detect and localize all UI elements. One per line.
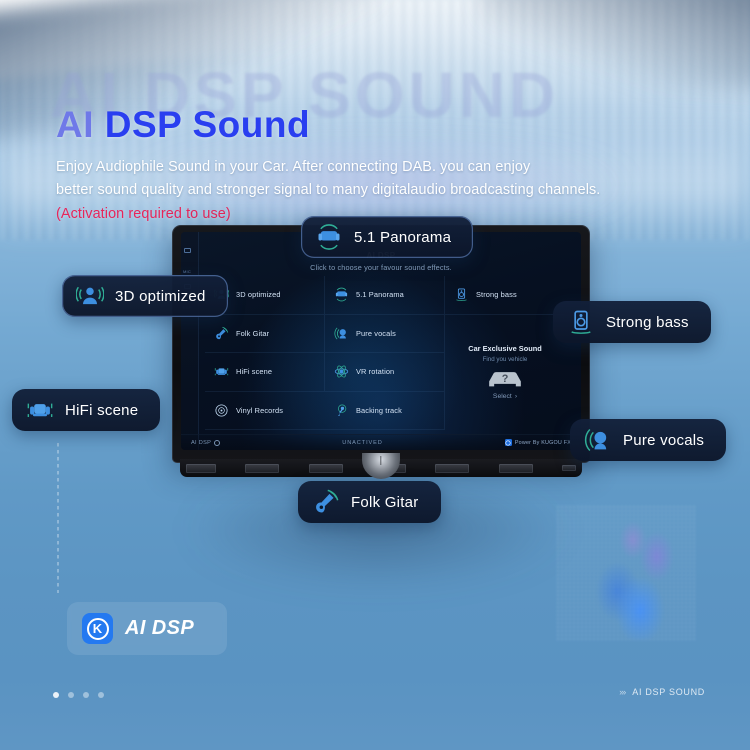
- kugou-k-letter: K: [87, 618, 109, 640]
- car-panel-title: Car Exclusive Sound: [468, 344, 542, 353]
- kugou-brand-icon: [505, 439, 512, 446]
- callout-hifi-scene[interactable]: HiFi scene: [12, 389, 160, 431]
- vocals-icon: [584, 426, 612, 454]
- callout-label: HiFi scene: [65, 402, 138, 419]
- guitar-icon: [214, 326, 229, 341]
- status-right-label: Power By KUGOU FX: [515, 440, 571, 446]
- car-select-label: Select: [493, 393, 512, 400]
- grid-label: 5.1 Panorama: [356, 290, 404, 299]
- port-connector-6: [499, 464, 533, 473]
- status-right: Power By KUGOU FX: [505, 439, 571, 446]
- callout-label: 3D optimized: [115, 288, 206, 305]
- guitar-icon: [312, 488, 340, 516]
- carousel-dot-4[interactable]: [98, 692, 104, 698]
- armchair-icon: [26, 396, 54, 424]
- car-exclusive-sound-panel[interactable]: Car Exclusive Sound Find you vehicle ? S…: [445, 315, 565, 431]
- sound-effect-grid: 3D optimized 5.1 Panorama Strong bass Fo: [205, 276, 565, 430]
- info-icon[interactable]: [214, 440, 220, 446]
- screen-status-bar: AI DSP UNACTIVED Power By KUGOU FX: [181, 434, 581, 450]
- particle-swirl-graphic: [556, 505, 696, 640]
- port-connector-3: [309, 464, 343, 473]
- subtitle-line-2: better sound quality and stronger signal…: [56, 179, 746, 202]
- callout-strong-bass[interactable]: Strong bass: [553, 301, 711, 343]
- grid-item-pure-vocals[interactable]: Pure vocals: [325, 315, 445, 354]
- grid-label: Folk Gitar: [236, 329, 269, 338]
- carousel-dot-2[interactable]: [68, 692, 74, 698]
- speaker-icon: [567, 308, 595, 336]
- status-left-label: AI DSP: [191, 440, 211, 446]
- grid-item-51-panorama[interactable]: 5.1 Panorama: [325, 276, 445, 315]
- port-usb-1: [186, 464, 216, 473]
- status-activation-state: UNACTIVED: [342, 440, 382, 446]
- car-select-link[interactable]: Select›: [493, 393, 517, 400]
- grid-label: HiFi scene: [236, 367, 272, 376]
- grid-label: Vinyl Records: [236, 406, 283, 415]
- backing-track-icon: [334, 403, 349, 418]
- page-title: AI DSP Sound: [56, 104, 746, 147]
- grid-label: 3D optimized: [236, 290, 281, 299]
- grid-item-vr-rotation[interactable]: VR rotation: [325, 353, 445, 392]
- vr-rotation-icon: [334, 364, 349, 379]
- status-left[interactable]: AI DSP: [191, 440, 220, 446]
- panorama-icon: [334, 287, 349, 302]
- car-panel-subtitle: Find you vehicle: [483, 356, 528, 363]
- vocals-icon: [334, 326, 349, 341]
- callout-3d-optimized[interactable]: 3D optimized: [62, 275, 228, 317]
- page-title-ai: AI: [56, 104, 105, 145]
- callout-51-panorama[interactable]: 5.1 Panorama: [301, 216, 473, 258]
- port-connector-5: [435, 464, 469, 473]
- grid-label: Pure vocals: [356, 329, 396, 338]
- grid-item-folk-gitar[interactable]: Folk Gitar: [205, 315, 325, 354]
- svg-text:?: ?: [502, 373, 509, 385]
- callout-label: Strong bass: [606, 314, 689, 331]
- car-placeholder-icon: ?: [485, 366, 525, 390]
- speaker-icon: [454, 287, 469, 302]
- grid-label: VR rotation: [356, 367, 394, 376]
- carousel-dot-1[interactable]: [53, 692, 59, 698]
- grid-label: Strong bass: [476, 290, 517, 299]
- grid-label: Backing track: [356, 406, 402, 415]
- knob-indicator: [380, 456, 381, 465]
- callout-folk-gitar[interactable]: Folk Gitar: [298, 481, 441, 523]
- subtitle-line-1: Enjoy Audiophile Sound in your Car. Afte…: [56, 156, 746, 179]
- chevrons-right-icon: ›››: [619, 687, 625, 697]
- grid-item-vinyl-records[interactable]: Vinyl Records: [205, 392, 325, 431]
- particle-dots: [556, 505, 696, 640]
- kugou-k-icon: K: [82, 613, 113, 644]
- armchair-icon: [214, 364, 229, 379]
- grid-item-hifi-scene[interactable]: HiFi scene: [205, 353, 325, 392]
- grid-item-backing-track[interactable]: Backing track: [325, 392, 445, 431]
- ai-dsp-badge-label: AI DSP: [125, 617, 194, 640]
- ai-dsp-badge[interactable]: K AI DSP: [67, 602, 227, 655]
- callout-label: 5.1 Panorama: [354, 229, 451, 246]
- carousel-dot-3[interactable]: [83, 692, 89, 698]
- device-screen[interactable]: MIC ESP AI DSP Click to choose your favo…: [181, 232, 581, 450]
- header-block: AI DSP Sound Enjoy Audiophile Sound in y…: [56, 104, 746, 222]
- dotted-guide-line: [57, 443, 59, 593]
- chevron-right-icon: ›: [515, 393, 517, 400]
- callout-label: Folk Gitar: [351, 494, 419, 511]
- carousel-dots[interactable]: [53, 692, 104, 698]
- car-head-unit: MIC ESP AI DSP Click to choose your favo…: [172, 225, 590, 475]
- page-title-rest: DSP Sound: [105, 104, 310, 145]
- panorama-icon: [315, 223, 343, 251]
- port-connector-2: [245, 464, 279, 473]
- port-usb-c: [562, 465, 576, 471]
- 3d-optimized-icon: [76, 282, 104, 310]
- callout-pure-vocals[interactable]: Pure vocals: [570, 419, 726, 461]
- footer-link[interactable]: ››› AI DSP SOUND: [619, 687, 705, 697]
- vinyl-icon: [214, 403, 229, 418]
- grid-item-strong-bass[interactable]: Strong bass: [445, 276, 565, 315]
- screen-hint: Click to choose your favour sound effect…: [181, 263, 581, 272]
- footer-label: AI DSP SOUND: [632, 687, 705, 697]
- callout-label: Pure vocals: [623, 432, 704, 449]
